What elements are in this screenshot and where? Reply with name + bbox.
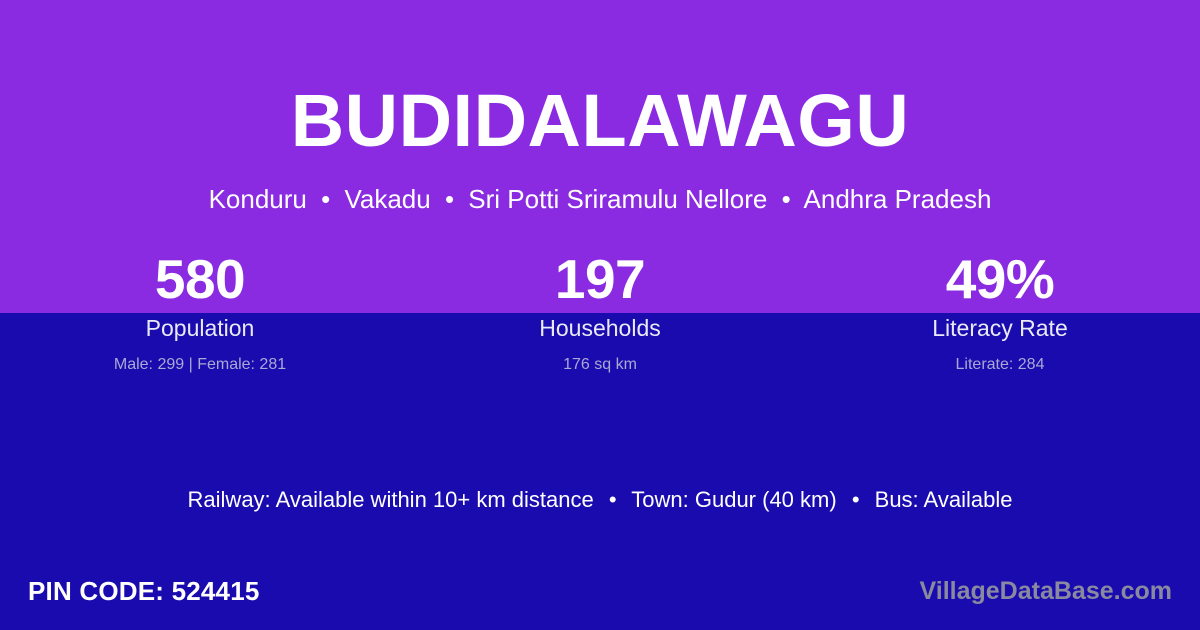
breadcrumb-item-state: Andhra Pradesh (804, 184, 992, 214)
village-title: BUDIDALAWAGU (0, 84, 1200, 158)
stat-sublabel: Male: 299 | Female: 281 (0, 354, 400, 376)
breadcrumb-item-mandal: Vakadu (344, 184, 430, 214)
brand-watermark: VillageDataBase.com (920, 576, 1172, 606)
facility-bus: Bus: Available (875, 487, 1013, 512)
breadcrumb-separator: • (438, 184, 461, 215)
stat-value: 197 (400, 248, 800, 310)
facility-town: Town: Gudur (40 km) (631, 487, 836, 512)
breadcrumb-item-panchayat: Konduru (209, 184, 307, 214)
stat-label: Literacy Rate (800, 313, 1200, 343)
stat-label: Population (0, 313, 400, 343)
breadcrumb: Konduru • Vakadu • Sri Potti Sriramulu N… (0, 184, 1200, 215)
breadcrumb-separator: • (775, 184, 798, 215)
facility-separator: • (843, 486, 869, 514)
stat-population: 580 Population Male: 299 | Female: 281 (0, 248, 400, 376)
stats-row: 580 Population Male: 299 | Female: 281 1… (0, 248, 1200, 376)
stat-sublabel: 176 sq km (400, 354, 800, 376)
stat-value: 580 (0, 248, 400, 310)
facility-separator: • (600, 486, 626, 514)
stat-literacy-rate: 49% Literacy Rate Literate: 284 (800, 248, 1200, 376)
stat-sublabel: Literate: 284 (800, 354, 1200, 376)
village-info-card: BUDIDALAWAGU Konduru • Vakadu • Sri Pott… (0, 0, 1200, 630)
breadcrumb-separator: • (314, 184, 337, 215)
stat-households: 197 Households 176 sq km (400, 248, 800, 376)
breadcrumb-item-district: Sri Potti Sriramulu Nellore (468, 184, 767, 214)
stat-value: 49% (800, 248, 1200, 310)
stat-label: Households (400, 313, 800, 343)
facilities-line: Railway: Available within 10+ km distanc… (0, 486, 1200, 514)
pin-code: PIN CODE: 524415 (28, 576, 260, 606)
facility-railway: Railway: Available within 10+ km distanc… (188, 487, 594, 512)
